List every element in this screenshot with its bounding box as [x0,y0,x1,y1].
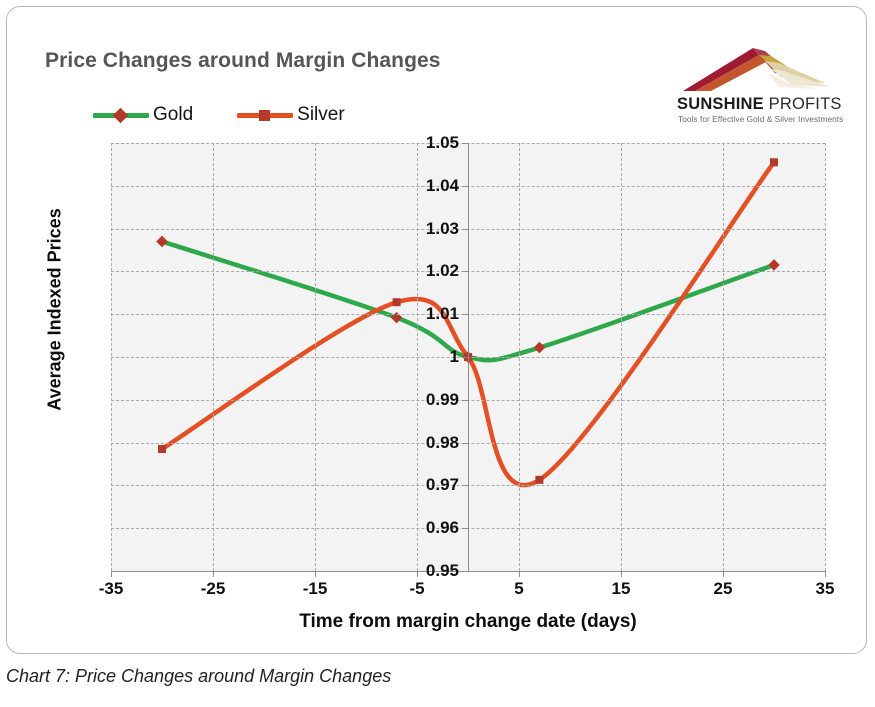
data-point-silver[interactable] [535,476,543,484]
x-tick-label: 35 [816,579,835,599]
x-tick [621,571,622,577]
chart-title: Price Changes around Margin Changes [45,49,441,73]
logo-wordmark: SUNSHINE PROFITS [677,95,842,114]
logo-sunburst-icon [675,43,840,97]
y-tick [462,314,468,315]
x-tick [519,571,520,577]
legend-label-gold: Gold [153,104,193,126]
x-tick [723,571,724,577]
x-tick [825,571,826,577]
x-tick-label: 5 [514,579,523,599]
legend-swatch-silver [237,106,293,124]
y-tick [462,186,468,187]
logo-tagline: Tools for Effective Gold & Silver Invest… [678,114,843,124]
x-tick-label: 15 [612,579,631,599]
y-tick [462,400,468,401]
legend-marker-square-icon [259,110,270,121]
logo-word-bold: SUNSHINE [677,95,764,113]
y-tick [462,143,468,144]
legend-swatch-gold [93,106,149,124]
data-point-silver[interactable] [158,445,166,453]
y-axis-title: Average Indexed Prices [45,200,66,420]
logo-word-light: PROFITS [769,95,842,113]
legend-entry-gold[interactable]: Gold [93,104,193,126]
y-tick [462,571,468,572]
data-point-gold[interactable] [156,236,168,248]
x-axis-line [111,571,825,572]
x-tick-label: -15 [303,579,328,599]
y-tick [462,528,468,529]
legend-entry-silver[interactable]: Silver [237,104,345,126]
x-tick-label: 25 [714,579,733,599]
y-tick [462,485,468,486]
legend-label-silver: Silver [297,104,345,126]
x-axis-title: Time from margin change date (days) [111,611,825,633]
gridline-v [825,143,826,571]
chart-figure: Price Changes around Margin Changes SUNS… [6,6,867,654]
y-axis-line [468,143,469,571]
legend-marker-diamond-icon [113,108,129,124]
data-point-silver[interactable] [770,158,778,166]
x-tick-label: -35 [99,579,124,599]
x-tick [417,571,418,577]
y-tick [462,229,468,230]
y-tick [462,443,468,444]
data-point-silver[interactable] [393,298,401,306]
data-point-gold[interactable] [534,342,546,354]
y-tick [462,271,468,272]
x-tick [213,571,214,577]
x-tick [111,571,112,577]
sunshine-profits-logo: SUNSHINE PROFITS Tools for Effective Gol… [675,43,840,125]
x-tick-label: -25 [201,579,226,599]
x-tick-label: -5 [409,579,424,599]
data-point-gold[interactable] [391,312,403,324]
figure-caption: Chart 7: Price Changes around Margin Cha… [6,666,391,687]
data-point-gold[interactable] [768,259,780,271]
x-tick [315,571,316,577]
chart-legend: Gold Silver [93,103,345,127]
y-tick [462,357,468,358]
